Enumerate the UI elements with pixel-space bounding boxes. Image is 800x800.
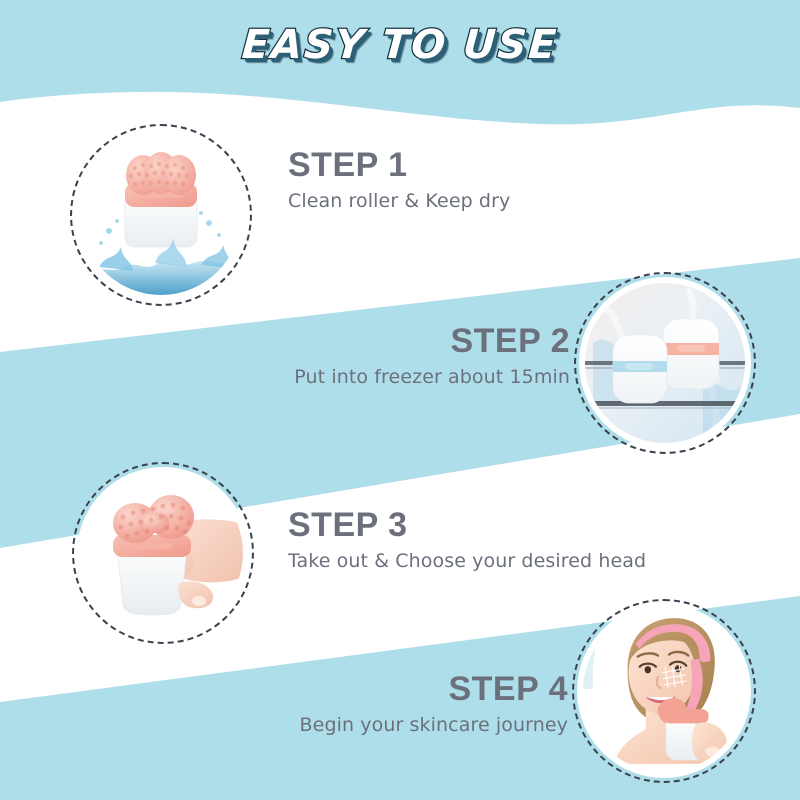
ice-roller-with-water-splash-icon (81, 135, 241, 295)
step-3-text-block: STEP 3 Take out & Choose your desired he… (288, 508, 708, 572)
step-3-title: STEP 3 (288, 508, 708, 544)
step-3-photo-circle (72, 462, 254, 644)
step-1-text-block: STEP 1 Clean roller & Keep dry (288, 148, 618, 212)
woman-using-ice-roller-on-face-icon (583, 610, 745, 772)
ice-roller-cases-in-freezer-icon (585, 283, 745, 443)
easy-to-use-infographic: EASY TO USE (0, 0, 800, 800)
step-3-description: Take out & Choose your desired head (288, 550, 708, 573)
step-1-photo (81, 135, 241, 295)
step-4-description: Begin your skincare journey (198, 714, 568, 737)
step-2-description: Put into freezer about 15min (210, 366, 570, 389)
page-title: EASY TO USE (240, 22, 559, 68)
step-1-photo-circle (70, 124, 252, 306)
step-2-photo (585, 283, 745, 443)
step-2-title: STEP 2 (210, 324, 570, 360)
hand-holding-ice-roller-icon (83, 473, 243, 633)
step-1-title: STEP 1 (288, 148, 618, 184)
step-1-description: Clean roller & Keep dry (288, 190, 618, 213)
title-container: EASY TO USE (0, 22, 800, 68)
step-2-photo-circle (574, 272, 756, 454)
step-3-photo (83, 473, 243, 633)
step-4-title: STEP 4 (198, 672, 568, 708)
step-4-text-block: STEP 4 Begin your skincare journey (198, 672, 568, 736)
step-2-text-block: STEP 2 Put into freezer about 15min (210, 324, 570, 388)
step-4-photo-circle (572, 599, 756, 783)
step-4-photo (583, 610, 745, 772)
